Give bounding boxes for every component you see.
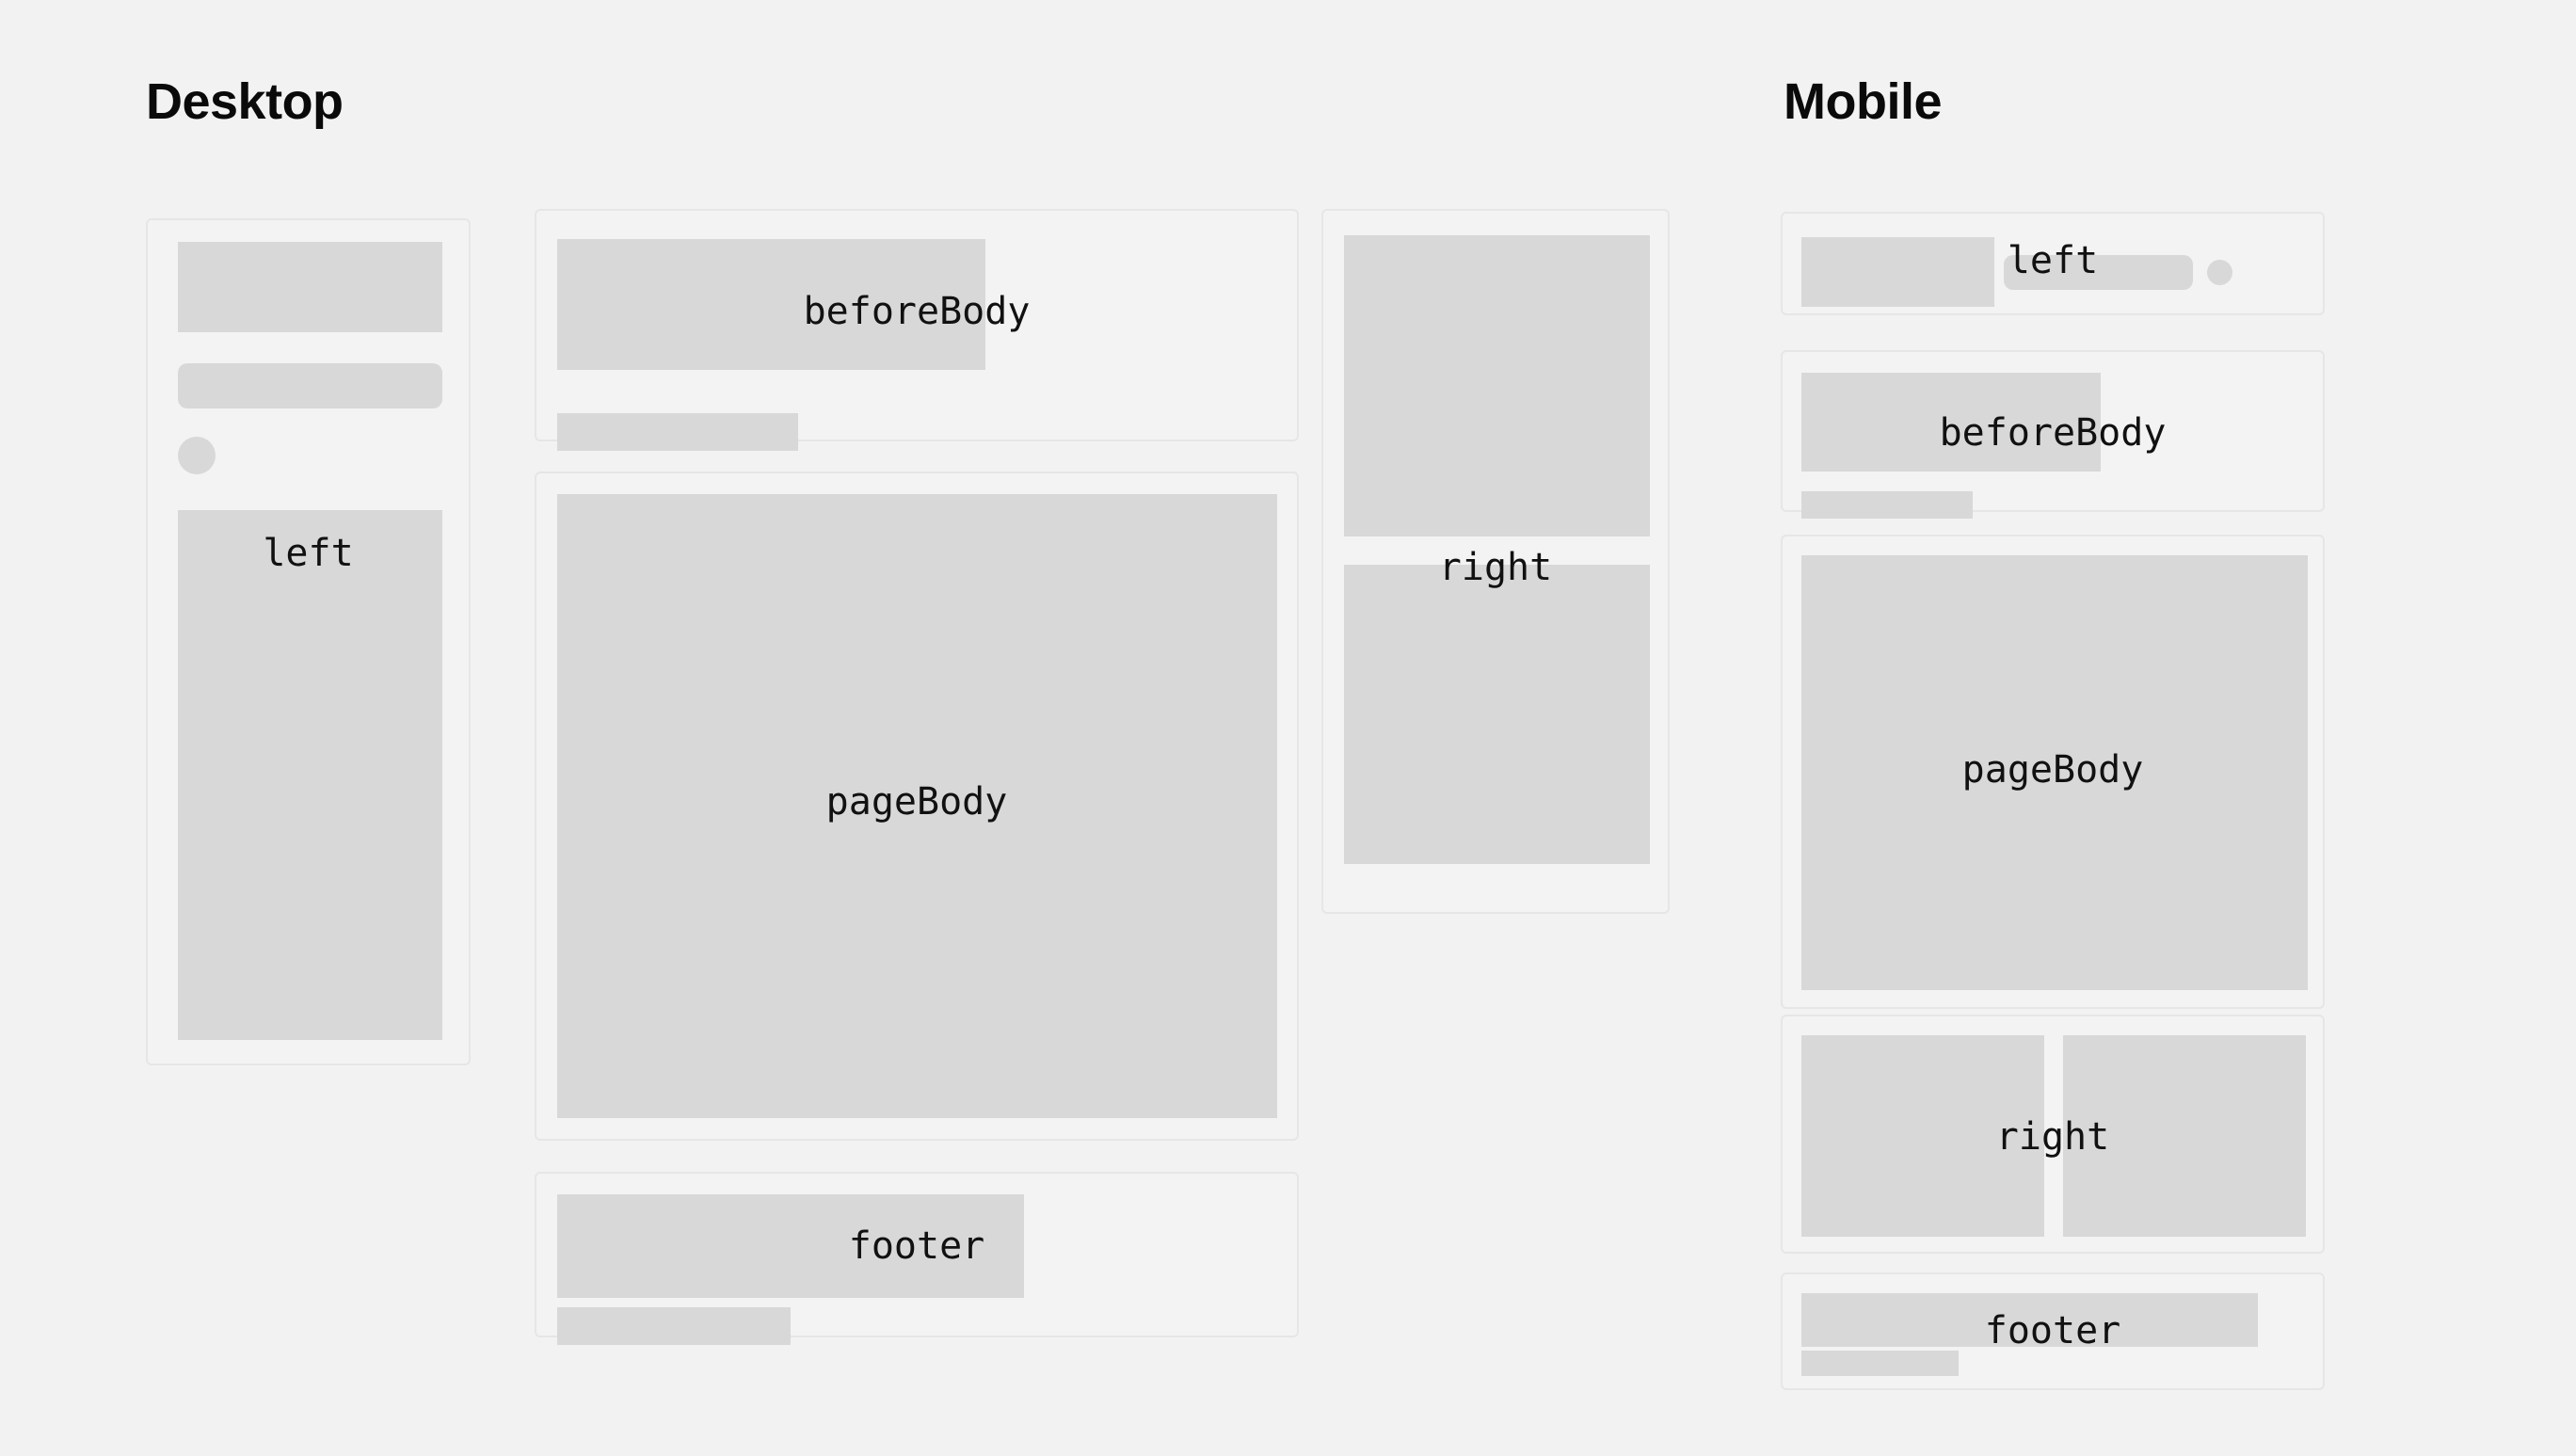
mobile-footer-block-stack [1801, 1293, 2258, 1376]
desktop-left-dot-block [178, 437, 216, 474]
mobile-column-heading: Mobile [1784, 73, 1942, 130]
mobile-footer-hero-block [1801, 1293, 2258, 1347]
mobile-right-slot-card[interactable] [1781, 1015, 2325, 1254]
desktop-right-slot-card[interactable] [1321, 209, 1670, 914]
mobile-right-right-block [2063, 1035, 2306, 1237]
mobile-beforebody-small-block [1801, 491, 1973, 519]
desktop-footer-block-stack [557, 1194, 1024, 1345]
desktop-right-bottom-block [1344, 565, 1650, 864]
desktop-beforebody-block-stack [557, 239, 985, 451]
mobile-right-block-row [1801, 1035, 2306, 1237]
desktop-footer-small-block [557, 1307, 791, 1345]
desktop-beforebody-small-block [557, 413, 798, 451]
mobile-left-hero-block [1801, 237, 1994, 307]
desktop-beforebody-hero-block [557, 239, 985, 370]
desktop-footer-hero-block [557, 1194, 1024, 1298]
mobile-pagebody-slot-card[interactable] [1781, 535, 2325, 1009]
desktop-left-block-stack [178, 242, 442, 1040]
mobile-beforebody-block-stack [1801, 373, 2101, 519]
desktop-right-top-block [1344, 235, 1650, 536]
mobile-left-slot-card[interactable] [1781, 212, 2325, 315]
desktop-pagebody-main-block [557, 494, 1277, 1118]
mobile-footer-slot-card[interactable] [1781, 1272, 2325, 1390]
desktop-column-heading: Desktop [146, 73, 344, 130]
desktop-footer-slot-card[interactable] [535, 1172, 1299, 1337]
mobile-pagebody-main-block [1801, 555, 2308, 990]
desktop-pagebody-slot-card[interactable] [535, 472, 1299, 1141]
mobile-left-block-row [1801, 237, 2232, 307]
mobile-footer-small-block [1801, 1351, 1959, 1376]
mobile-right-left-block [1801, 1035, 2044, 1237]
desktop-left-bar-block [178, 363, 442, 408]
mobile-left-dot-block [2207, 260, 2232, 285]
mobile-beforebody-hero-block [1801, 373, 2101, 472]
desktop-left-slot-card[interactable] [146, 218, 471, 1065]
mobile-beforebody-slot-card[interactable] [1781, 350, 2325, 512]
layout-preview-page: Desktop Mobile left beforeBody pageBody … [0, 0, 2576, 1456]
mobile-left-bar-block [2004, 255, 2193, 290]
desktop-beforebody-slot-card[interactable] [535, 209, 1299, 441]
desktop-left-main-block [178, 510, 442, 1040]
desktop-left-hero-block [178, 242, 442, 332]
